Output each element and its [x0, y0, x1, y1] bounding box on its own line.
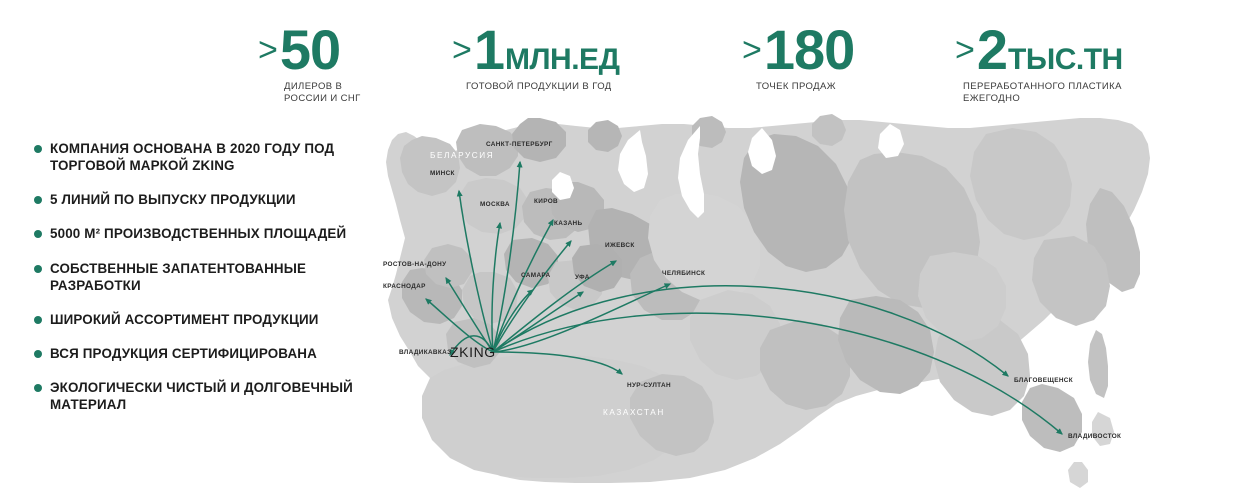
- stat-dealers: > 50 ДИЛЕРОВ ВРОССИИ И СНГ: [258, 22, 361, 105]
- hub-label-zking: ZKING: [450, 344, 496, 360]
- stats-row: > 50 ДИЛЕРОВ ВРОССИИ И СНГ > 1 МЛН.ЕД ГО…: [0, 0, 1250, 120]
- stat-sales-points-number: 180: [764, 22, 854, 78]
- bullet-dot-icon: [34, 350, 42, 358]
- list-item: ШИРОКИЙ АССОРТИМЕНТ ПРОДУКЦИИ: [34, 311, 384, 328]
- stat-output-caption: ГОТОВОЙ ПРОДУКЦИИ В ГОД: [466, 81, 619, 93]
- city-label-blagoveshchensk: БЛАГОВЕЩЕНСК: [1014, 377, 1073, 384]
- region-label-kazakhstan: КАЗАХСТАН: [603, 408, 665, 417]
- city-label-vladivostok: ВЛАДИВОСТОК: [1068, 433, 1121, 440]
- stat-recycled-plastic-number: 2: [977, 22, 1007, 78]
- greater-than-icon: >: [452, 33, 472, 67]
- stat-sales-points-value: > 180: [742, 22, 854, 78]
- bullet-dot-icon: [34, 196, 42, 204]
- city-label-kazan: КАЗАНЬ: [554, 220, 582, 227]
- list-item-label: 5 ЛИНИЙ ПО ВЫПУСКУ ПРОДУКЦИИ: [50, 191, 296, 208]
- bullet-dot-icon: [34, 316, 42, 324]
- city-label-vladikavkaz: ВЛАДИКАВКАЗ: [399, 349, 451, 356]
- list-item-label: ЭКОЛОГИЧЕСКИ ЧИСТЫЙ И ДОЛГОВЕЧНЫЙ МАТЕРИ…: [50, 379, 384, 413]
- greater-than-icon: >: [955, 33, 975, 67]
- city-label-ufa: УФА: [575, 274, 590, 281]
- stat-output: > 1 МЛН.ЕД ГОТОВОЙ ПРОДУКЦИИ В ГОД: [452, 22, 619, 93]
- city-label-chelyabinsk: ЧЕЛЯБИНСК: [662, 270, 705, 277]
- bullet-dot-icon: [34, 265, 42, 273]
- city-label-krasnodar: КРАСНОДАР: [383, 283, 426, 290]
- list-item: КОМПАНИЯ ОСНОВАНА В 2020 ГОДУ ПОД ТОРГОВ…: [34, 140, 384, 174]
- stat-recycled-plastic: > 2 ТЫС.ТН ПЕРЕРАБОТАННОГО ПЛАСТИКАЕЖЕГО…: [955, 22, 1123, 105]
- bullet-dot-icon: [34, 384, 42, 392]
- stat-output-value: > 1 МЛН.ЕД: [452, 22, 619, 78]
- stat-output-unit: МЛН.ЕД: [505, 45, 619, 75]
- city-label-moscow: МОСКВА: [480, 201, 510, 208]
- bullet-dot-icon: [34, 145, 42, 153]
- list-item-label: 5000 м² ПРОИЗВОДСТВЕННЫХ ПЛОЩАДЕЙ: [50, 225, 346, 242]
- list-item-label: ВСЯ ПРОДУКЦИЯ СЕРТИФИЦИРОВАНА: [50, 345, 317, 362]
- list-item: ВСЯ ПРОДУКЦИЯ СЕРТИФИЦИРОВАНА: [34, 345, 384, 362]
- stat-dealers-caption: ДИЛЕРОВ ВРОССИИ И СНГ: [284, 81, 361, 105]
- city-label-izhevsk: ИЖЕВСК: [605, 242, 635, 249]
- city-label-minsk: МИНСК: [430, 170, 455, 177]
- greater-than-icon: >: [258, 33, 278, 67]
- list-item: 5000 м² ПРОИЗВОДСТВЕННЫХ ПЛОЩАДЕЙ: [34, 225, 384, 242]
- greater-than-icon: >: [742, 33, 762, 67]
- city-label-kirov: КИРОВ: [534, 198, 558, 205]
- stat-recycled-plastic-value: > 2 ТЫС.ТН: [955, 22, 1123, 78]
- stat-recycled-plastic-caption: ПЕРЕРАБОТАННОГО ПЛАСТИКАЕЖЕГОДНО: [963, 81, 1123, 105]
- stat-sales-points: > 180 ТОЧЕК ПРОДАЖ: [742, 22, 854, 93]
- city-label-nur-sultan: НУР-СУЛТАН: [627, 382, 671, 389]
- feature-list: КОМПАНИЯ ОСНОВАНА В 2020 ГОДУ ПОД ТОРГОВ…: [34, 140, 384, 431]
- list-item: 5 ЛИНИЙ ПО ВЫПУСКУ ПРОДУКЦИИ: [34, 191, 384, 208]
- stat-dealers-number: 50: [280, 22, 340, 78]
- list-item-label: СОБСТВЕННЫЕ ЗАПАТЕНТОВАННЫЕ РАЗРАБОТКИ: [50, 260, 384, 294]
- stat-output-number: 1: [474, 22, 504, 78]
- list-item: СОБСТВЕННЫЕ ЗАПАТЕНТОВАННЫЕ РАЗРАБОТКИ: [34, 260, 384, 294]
- stat-sales-points-caption: ТОЧЕК ПРОДАЖ: [756, 81, 854, 93]
- list-item: ЭКОЛОГИЧЕСКИ ЧИСТЫЙ И ДОЛГОВЕЧНЫЙ МАТЕРИ…: [34, 379, 384, 413]
- city-label-rostov-na-donu: РОСТОВ-НА-ДОНУ: [383, 261, 446, 268]
- city-label-samara: САМАРА: [521, 272, 550, 279]
- bullet-dot-icon: [34, 230, 42, 238]
- list-item-label: КОМПАНИЯ ОСНОВАНА В 2020 ГОДУ ПОД ТОРГОВ…: [50, 140, 384, 174]
- region-label-belarus: БЕЛАРУСИЯ: [430, 151, 494, 160]
- stat-recycled-plastic-unit: ТЫС.ТН: [1008, 45, 1123, 75]
- stat-dealers-value: > 50: [258, 22, 361, 78]
- list-item-label: ШИРОКИЙ АССОРТИМЕНТ ПРОДУКЦИИ: [50, 311, 319, 328]
- city-label-saint-petersburg: САНКТ-ПЕТЕРБУРГ: [486, 141, 553, 148]
- infographic-root: САНКТ-ПЕТЕРБУРГ МИНСК МОСКВА КИРОВ КАЗАН…: [0, 0, 1250, 500]
